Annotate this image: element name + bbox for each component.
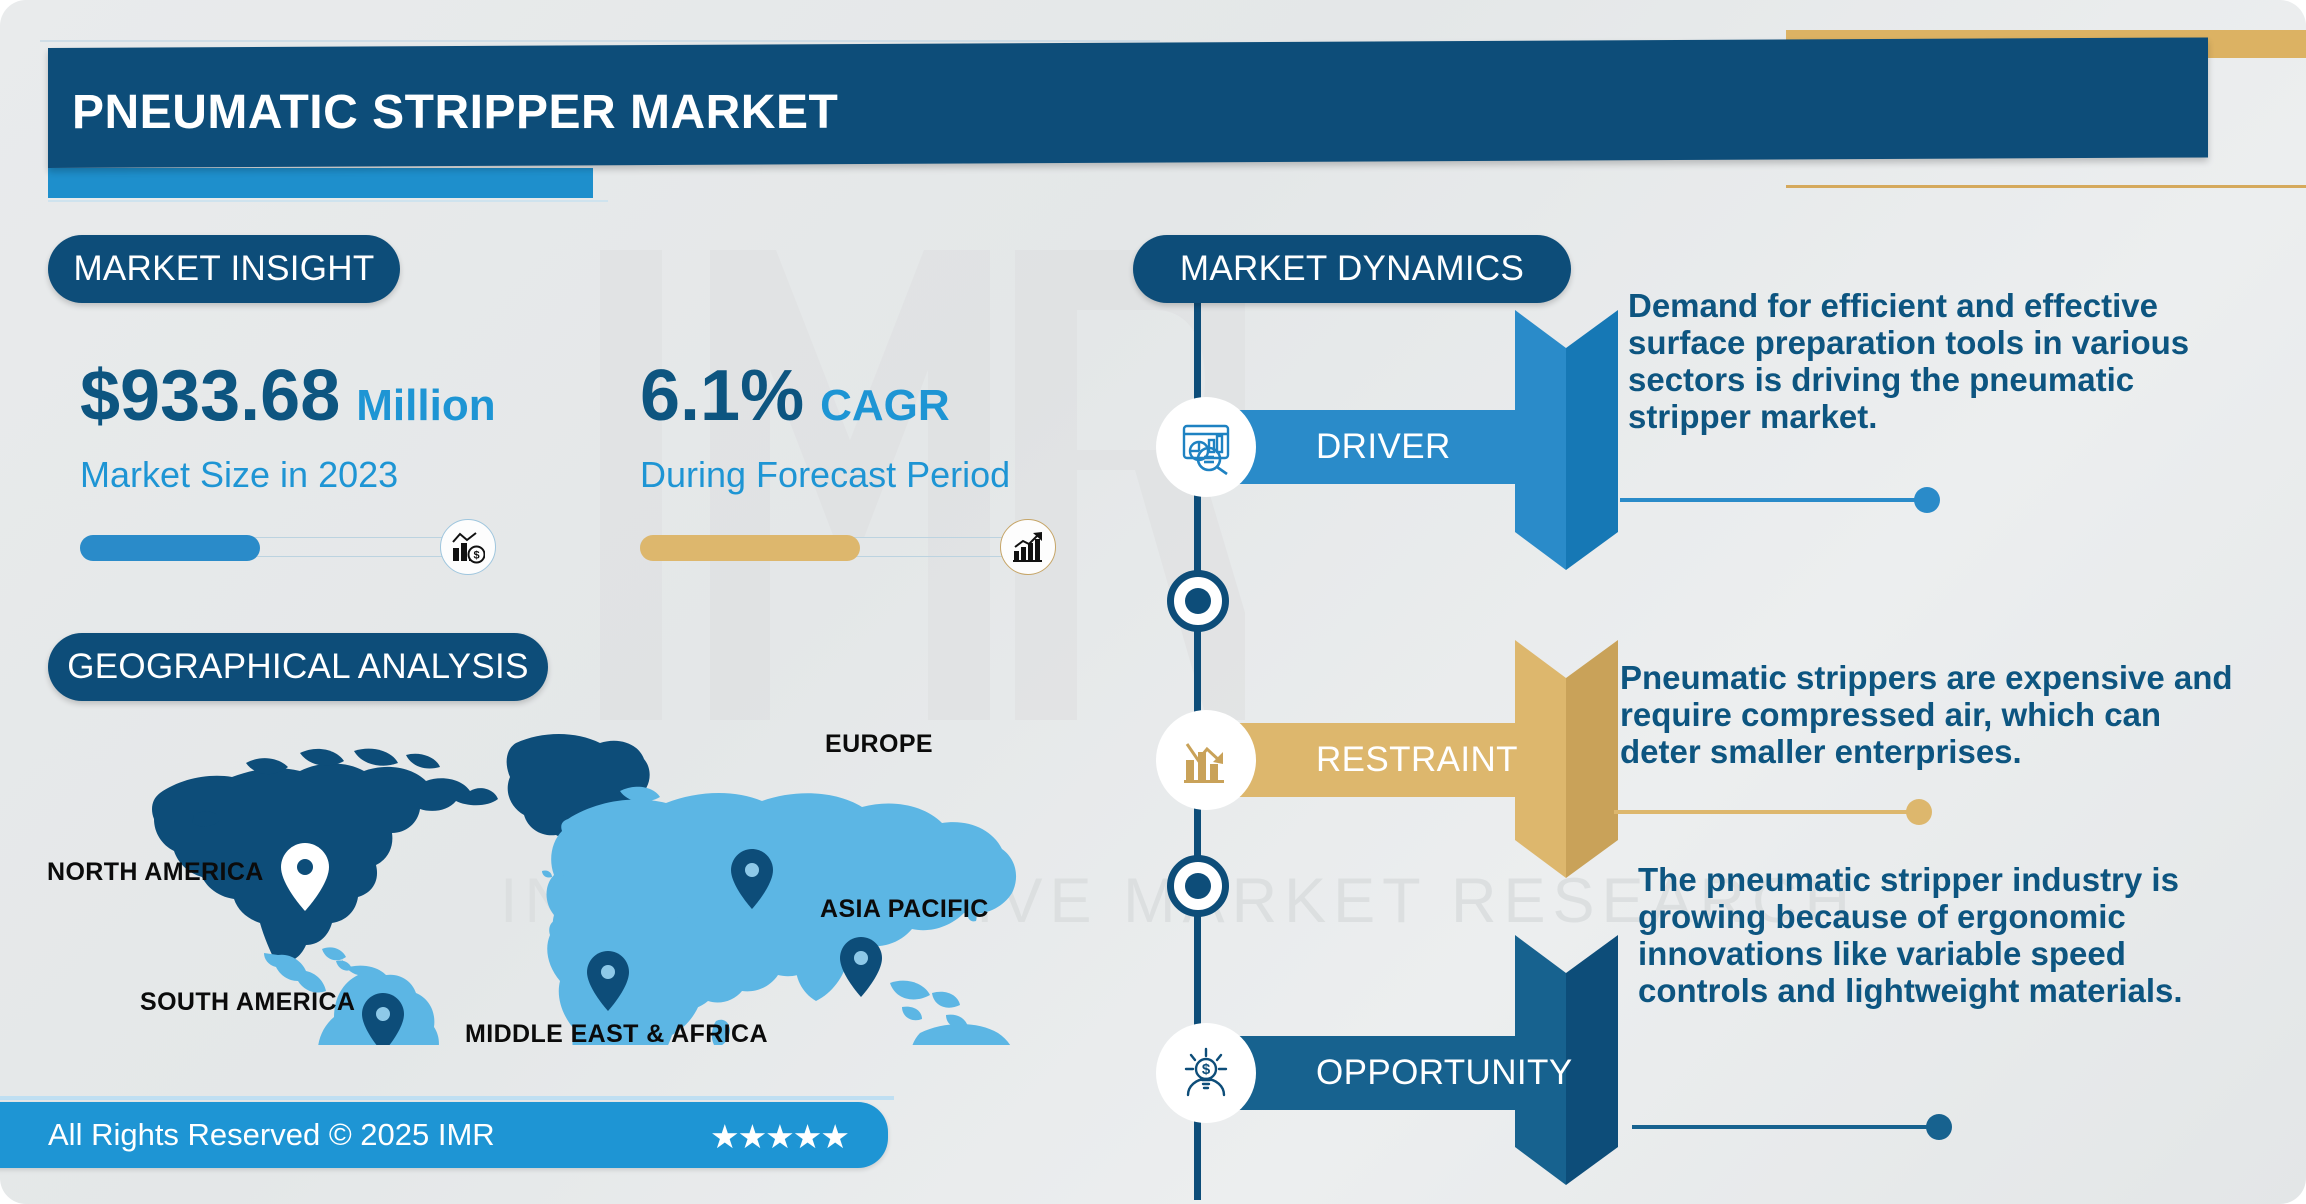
declining-bar-chart-icon bbox=[1156, 710, 1256, 810]
progress-fill bbox=[80, 535, 260, 561]
restraint-arrow bbox=[1515, 640, 1618, 878]
svg-text:$: $ bbox=[473, 550, 479, 562]
opportunity-label: OPPORTUNITY bbox=[1316, 1036, 1573, 1110]
opportunity-end-dot bbox=[1926, 1114, 1952, 1140]
kpi-cagr-value: 6.1% bbox=[640, 360, 804, 432]
opportunity-bar[interactable]: $ OPPORTUNITY bbox=[1196, 1036, 1516, 1110]
market-size-progress-bar: $ bbox=[80, 524, 490, 570]
driver-arrow bbox=[1515, 310, 1618, 570]
driver-bar[interactable]: DRIVER bbox=[1196, 410, 1516, 484]
opportunity-text: The pneumatic stripper industry is growi… bbox=[1638, 862, 2258, 1010]
restraint-text: Pneumatic strippers are expensive and re… bbox=[1620, 660, 2240, 771]
header-accent-rule bbox=[48, 200, 608, 202]
page-title: PNEUMATIC STRIPPER MARKET bbox=[72, 85, 838, 140]
geo-label-asia-pacific: ASIA PACIFIC bbox=[820, 895, 989, 924]
driver-text: Demand for efficient and effective surfa… bbox=[1628, 288, 2248, 436]
analytics-search-icon bbox=[1156, 397, 1256, 497]
opportunity-underline bbox=[1632, 1125, 1932, 1129]
rating-stars: ★★★★★ bbox=[710, 1117, 848, 1156]
map-pin-asia-pacific bbox=[840, 937, 882, 997]
geo-label-south-america: SOUTH AMERICA bbox=[140, 988, 355, 1017]
growth-chart-arrow-icon bbox=[1000, 519, 1056, 575]
timeline-node-2 bbox=[1167, 855, 1229, 917]
kpi-market-size-unit: Million bbox=[356, 381, 495, 431]
geo-label-north-america: NORTH AMERICA bbox=[47, 858, 264, 887]
header-top-rule bbox=[40, 40, 1160, 42]
driver-end-dot bbox=[1914, 487, 1940, 513]
kpi-market-size-value: $933.68 bbox=[80, 360, 340, 432]
restraint-label: RESTRAINT bbox=[1316, 723, 1518, 797]
driver-label: DRIVER bbox=[1316, 410, 1451, 484]
svg-text:$: $ bbox=[1202, 1061, 1211, 1078]
footer-top-rule bbox=[0, 1096, 894, 1100]
bar-chart-dollar-icon: $ bbox=[440, 519, 496, 575]
progress-fill bbox=[640, 535, 860, 561]
kpi-cagr: 6.1% CAGR During Forecast Period bbox=[640, 360, 1050, 570]
infographic-canvas: INTROSPECTIVE MARKET RESEARCH PNEUMATIC … bbox=[0, 0, 2306, 1204]
header-accent-bar bbox=[48, 168, 593, 198]
geo-label-middle-east-africa: MIDDLE EAST & AFRICA bbox=[465, 1020, 768, 1049]
geo-label-europe: EUROPE bbox=[825, 730, 933, 759]
kpi-cagr-unit: CAGR bbox=[820, 381, 950, 431]
restraint-underline bbox=[1614, 810, 1912, 814]
header-gold-rule bbox=[1786, 185, 2306, 188]
copyright-text: All Rights Reserved © 2025 IMR bbox=[48, 1117, 495, 1153]
cagr-progress-bar bbox=[640, 524, 1050, 570]
kpi-cagr-caption: During Forecast Period bbox=[640, 454, 1050, 496]
timeline-node-1 bbox=[1167, 570, 1229, 632]
restraint-bar[interactable]: RESTRAINT bbox=[1196, 723, 1516, 797]
restraint-end-dot bbox=[1906, 799, 1932, 825]
geographical-analysis-pill: GEOGRAPHICAL ANALYSIS bbox=[48, 633, 548, 701]
kpi-market-size-caption: Market Size in 2023 bbox=[80, 454, 496, 496]
lightbulb-dollar-icon: $ bbox=[1156, 1023, 1256, 1123]
market-dynamics-pill: MARKET DYNAMICS bbox=[1133, 235, 1571, 303]
kpi-market-size: $933.68 Million Market Size in 2023 $ bbox=[80, 360, 496, 570]
driver-underline bbox=[1620, 498, 1920, 502]
market-insight-pill: MARKET INSIGHT bbox=[48, 235, 400, 303]
